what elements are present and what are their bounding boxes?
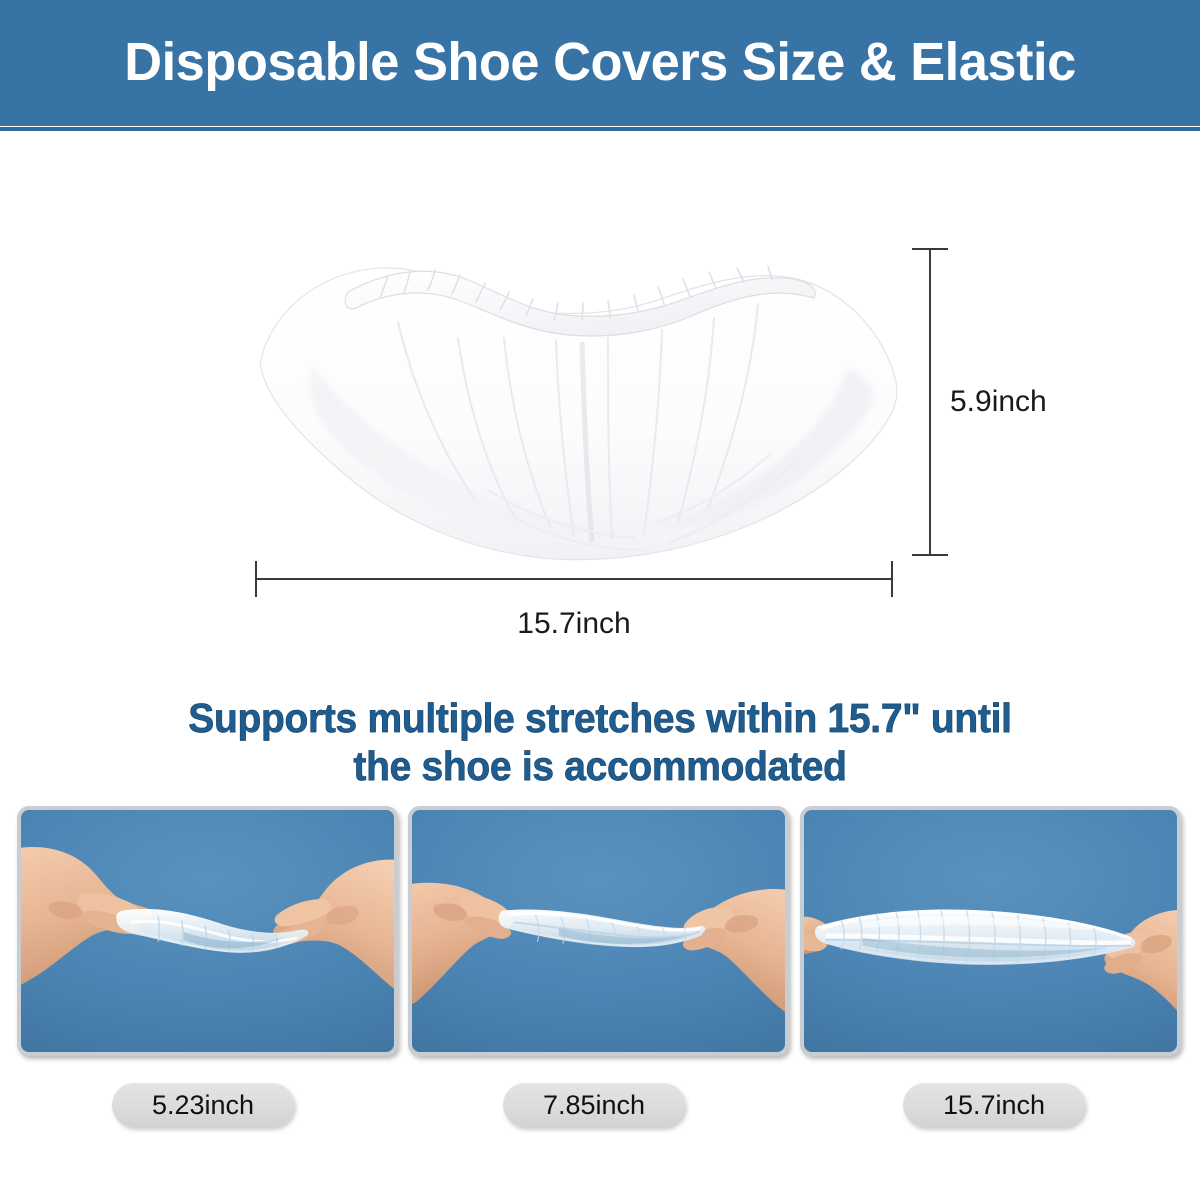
shoe-cover-image <box>252 246 902 566</box>
photo-hands-stretching-shoe-cover-full <box>804 810 1177 1052</box>
measurement-badge-2: 7.85inch <box>503 1083 685 1127</box>
stretch-subheading-line2: the shoe is accommodated <box>87 742 1113 790</box>
width-dimension-line <box>255 578 893 580</box>
stretch-subheading: Supports multiple stretches within 15.7"… <box>87 694 1113 790</box>
width-dimension-cap-right <box>891 561 893 597</box>
stretch-subheading-line1: Supports multiple stretches within 15.7"… <box>188 695 1011 741</box>
photo-hands-stretching-shoe-cover-relaxed <box>21 810 394 1052</box>
stretch-photo-panel-2 <box>408 806 789 1056</box>
stretch-photo-panel-3 <box>800 806 1181 1056</box>
height-dimension-label: 5.9inch <box>950 385 1047 419</box>
height-dimension-cap-bottom <box>912 554 948 556</box>
stretch-photo-row <box>0 806 1200 1058</box>
page-title: Disposable Shoe Covers Size & Elastic <box>18 30 1182 94</box>
stretch-photo-panel-1 <box>17 806 398 1056</box>
photo-hands-stretching-shoe-cover-medium <box>412 810 785 1052</box>
height-dimension-line <box>929 248 931 556</box>
measurement-badge-1: 5.23inch <box>112 1083 294 1127</box>
measurement-badge-row: 5.23inch 7.85inch 15.7inch <box>0 1083 1200 1129</box>
product-infographic: Disposable Shoe Covers Size & Elastic <box>0 0 1200 1200</box>
width-dimension-label: 15.7inch <box>255 607 893 641</box>
product-dimension-diagram: 5.9inch 15.7inch <box>0 131 1200 676</box>
measurement-badge-3: 15.7inch <box>903 1083 1085 1127</box>
